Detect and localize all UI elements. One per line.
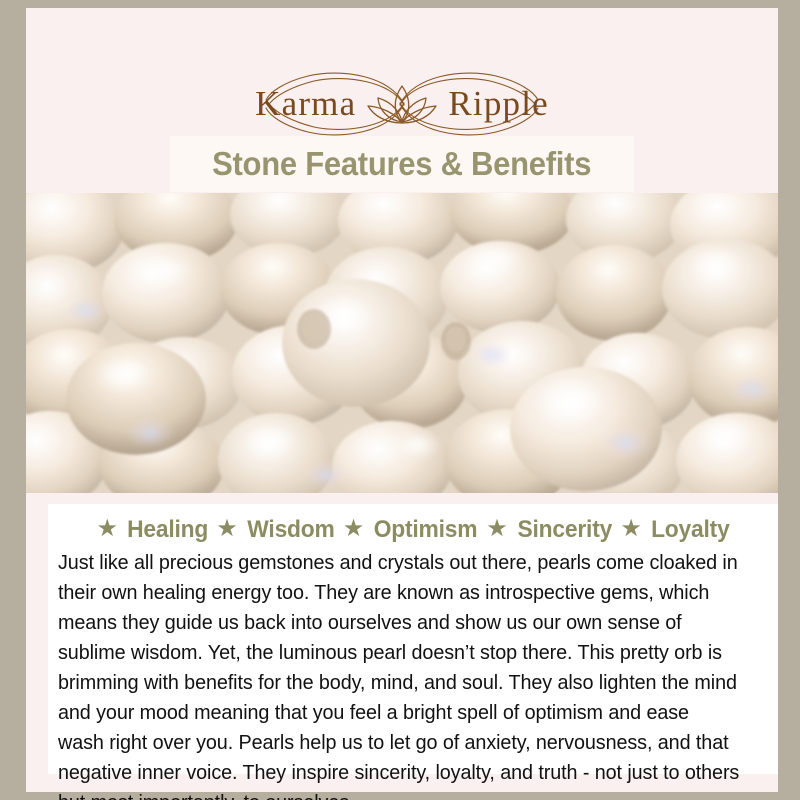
- infographic-page: Karma Ripple Stone Features & Benefits: [0, 0, 800, 800]
- pearl-photo: Pearl: [26, 193, 778, 493]
- keyword-healing: Healing: [127, 516, 208, 544]
- keyword-wisdom: Wisdom: [247, 516, 334, 544]
- pearl-photo-canvas: [26, 193, 778, 493]
- brand-word-left: Karma: [255, 84, 356, 124]
- frame-rail-left: [0, 0, 26, 800]
- star-icon: ★: [343, 517, 365, 541]
- keyword-optimism: Optimism: [374, 516, 478, 544]
- star-icon: ★: [486, 517, 508, 541]
- keyword-sincerity: Sincerity: [517, 516, 612, 544]
- body-paragraph: Just like all precious gemstones and cry…: [58, 548, 739, 800]
- page-title: Stone Features & Benefits: [212, 145, 591, 183]
- brand-word-right: Ripple: [448, 84, 549, 124]
- title-banner: Stone Features & Benefits: [170, 136, 634, 192]
- keyword-row: ★ Healing ★ Wisdom ★ Optimism ★ Sincerit…: [58, 516, 764, 544]
- star-icon: ★: [96, 517, 118, 541]
- photo-gap-strip: [26, 493, 778, 504]
- star-icon: ★: [620, 517, 642, 541]
- content-card: ★ Healing ★ Wisdom ★ Optimism ★ Sincerit…: [48, 504, 778, 774]
- keyword-loyalty: Loyalty: [651, 516, 729, 544]
- star-icon: ★: [216, 517, 238, 541]
- frame-rail-right: [778, 0, 800, 800]
